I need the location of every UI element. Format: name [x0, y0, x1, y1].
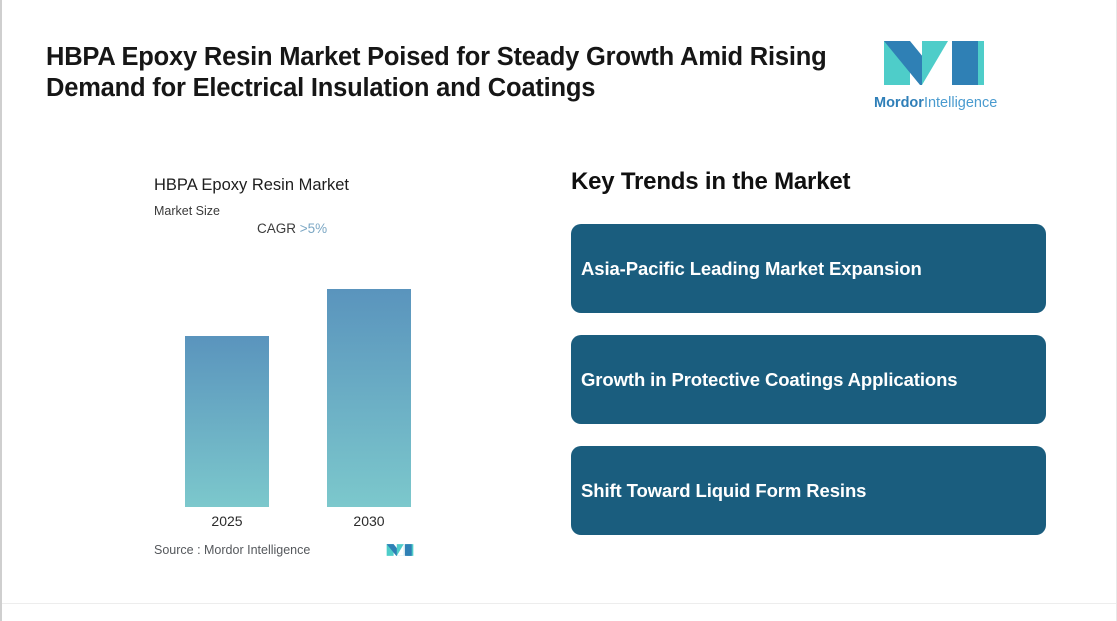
- chart-source-text: Source : Mordor Intelligence: [154, 543, 310, 557]
- infographic-page: HBPA Epoxy Resin Market Poised for Stead…: [0, 0, 1117, 621]
- page-title-line-1: HBPA Epoxy Resin Market Poised for Stead…: [46, 42, 836, 73]
- brand-name-light: Intelligence: [924, 95, 997, 111]
- bar-2025: [185, 336, 269, 507]
- trend-card-2[interactable]: Growth in Protective Coatings Applicatio…: [571, 335, 1046, 424]
- key-trends-heading: Key Trends in the Market: [571, 168, 1046, 196]
- bar-2030: [327, 289, 411, 507]
- trend-card-3[interactable]: Shift Toward Liquid Form Resins: [571, 446, 1046, 535]
- mordor-m-logo-icon: [384, 541, 416, 559]
- trend-card-3-label: Shift Toward Liquid Form Resins: [581, 477, 866, 504]
- x-axis-label-2030: 2030: [327, 513, 411, 529]
- trend-card-2-label: Growth in Protective Coatings Applicatio…: [581, 366, 957, 393]
- trend-card-1[interactable]: Asia-Pacific Leading Market Expansion: [571, 224, 1046, 313]
- cagr-value: >5%: [300, 221, 327, 236]
- brand-name-bold: Mordor: [874, 95, 924, 111]
- trend-card-1-label: Asia-Pacific Leading Market Expansion: [581, 255, 922, 282]
- x-axis-label-2025: 2025: [185, 513, 269, 529]
- chart-plot-area: [154, 281, 454, 507]
- chart-cagr-annotation: CAGR >5%: [257, 221, 327, 236]
- key-trends-panel: Key Trends in the Market Asia-Pacific Le…: [571, 168, 1046, 557]
- market-size-chart: HBPA Epoxy Resin Market Market Size CAGR…: [154, 176, 454, 566]
- brand-wordmark: MordorIntelligence: [874, 95, 994, 111]
- chart-title: HBPA Epoxy Resin Market: [154, 176, 349, 195]
- bottom-divider: [2, 603, 1116, 604]
- mordor-m-logo-icon: [874, 37, 994, 89]
- page-title-line-2: Demand for Electrical Insulation and Coa…: [46, 73, 836, 104]
- chart-subtitle: Market Size: [154, 204, 220, 218]
- page-title: HBPA Epoxy Resin Market Poised for Stead…: [46, 42, 836, 104]
- cagr-label: CAGR: [257, 221, 296, 236]
- chart-source: Source : Mordor Intelligence: [154, 541, 454, 563]
- brand-logo: MordorIntelligence: [874, 37, 994, 117]
